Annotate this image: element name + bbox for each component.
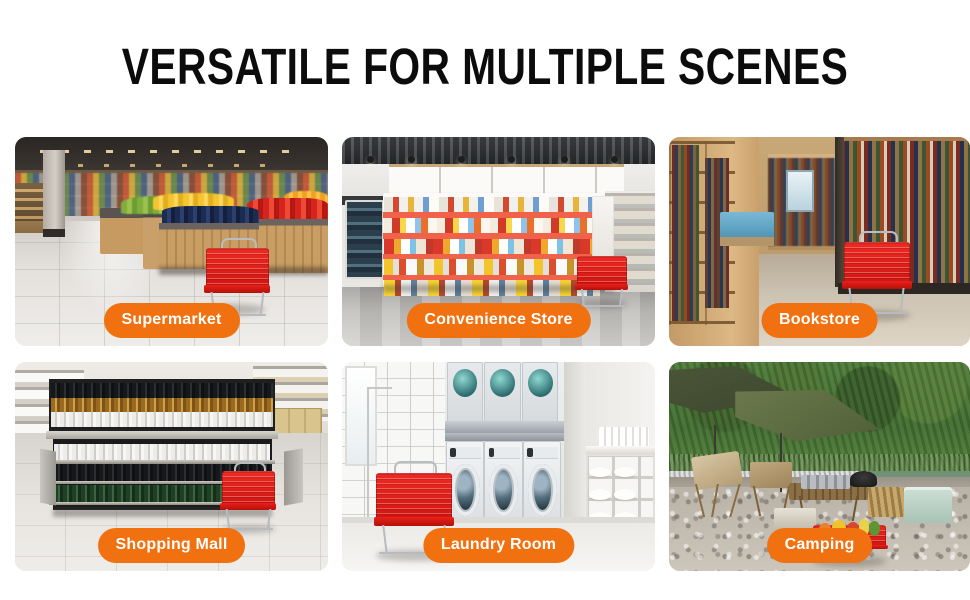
wood-counter-b — [259, 219, 328, 273]
chair-leg — [730, 484, 741, 517]
bench-base — [720, 237, 774, 245]
counter-top — [586, 446, 655, 454]
scene-card-camping[interactable]: Camping — [669, 362, 970, 571]
beverage-fridge — [345, 200, 383, 279]
shelf-wing-left — [40, 448, 56, 505]
track-light-icon — [611, 156, 618, 163]
storage-box — [774, 508, 816, 529]
red-shopping-basket — [222, 471, 275, 530]
track-light-icon — [561, 156, 568, 163]
shelf-row-products — [384, 197, 600, 212]
scene-grid: Supermarket — [15, 137, 956, 571]
scene-card-laundry-room[interactable]: Laundry Room — [342, 362, 655, 571]
ceiling-light-row — [40, 150, 303, 153]
folded-towel — [589, 467, 611, 477]
column — [43, 150, 65, 238]
camp-stove — [850, 471, 877, 488]
window — [786, 170, 814, 212]
dryer-door — [528, 369, 553, 397]
track-light-icon — [367, 156, 374, 163]
dryer-door — [490, 369, 515, 397]
bottle-row-white — [51, 412, 273, 427]
scene-card-supermarket[interactable]: Supermarket — [15, 137, 328, 346]
scene-label-bookstore[interactable]: Bookstore — [761, 303, 878, 338]
dryer — [522, 362, 558, 423]
page-title: VERSATILE FOR MULTIPLE SCENES — [97, 40, 873, 94]
camp-chair — [693, 454, 741, 517]
scene-label-supermarket[interactable]: Supermarket — [103, 303, 239, 338]
scene-label-laundry-room[interactable]: Laundry Room — [423, 528, 574, 563]
ceiling-slats — [342, 137, 655, 164]
basket-cart-legs — [579, 289, 625, 307]
scene-card-convenience-store[interactable]: Convenience Store — [342, 137, 655, 346]
basket-body — [844, 242, 910, 286]
firewood — [868, 487, 904, 516]
folded-towel — [589, 489, 611, 499]
cooler-box — [904, 487, 952, 523]
machine-beam — [445, 421, 564, 434]
wall-rail — [367, 387, 369, 521]
bookcase-divider — [835, 137, 844, 287]
dryer — [484, 362, 520, 423]
red-shopping-basket-stack — [844, 242, 910, 313]
bottle-row-white — [54, 444, 270, 461]
cookware — [801, 475, 849, 490]
washer-door — [528, 464, 557, 516]
shelf-row-products — [384, 218, 600, 233]
basket-body — [222, 471, 275, 507]
washer-knob — [450, 448, 456, 456]
basket-cart-legs — [224, 509, 273, 530]
dryer — [447, 362, 483, 423]
scene-card-bookstore[interactable]: Bookstore — [669, 137, 970, 346]
promo-banner: VERSATILE FOR MULTIPLE SCENES — [0, 0, 970, 600]
greens — [869, 521, 880, 536]
shelf-row-products — [384, 239, 600, 254]
washer-knob — [527, 448, 533, 456]
track-light-icon — [408, 156, 415, 163]
left-books — [672, 145, 699, 321]
scene-label-convenience-store[interactable]: Convenience Store — [406, 303, 590, 338]
chair-seat — [750, 462, 792, 488]
wall-rail-top — [367, 387, 392, 389]
cart-foot — [579, 305, 625, 307]
dryer-door — [453, 369, 478, 397]
washer-door — [489, 464, 518, 516]
basket-body — [577, 256, 627, 287]
washing-machine — [523, 441, 561, 527]
track-light-icon — [458, 156, 465, 163]
chair-leg — [711, 484, 719, 517]
shelf-row-products — [384, 259, 600, 274]
basket-body — [206, 248, 269, 289]
machine-beam-lower — [445, 433, 564, 441]
washing-machine — [446, 441, 484, 527]
scene-label-camping[interactable]: Camping — [767, 528, 873, 563]
red-shopping-basket — [577, 256, 627, 306]
washer-door — [451, 464, 480, 516]
folded-towel — [614, 467, 636, 477]
bottle-row-dark — [51, 383, 273, 398]
detergent-bottles — [599, 427, 649, 448]
ceiling-light-row-2 — [78, 164, 285, 167]
washing-machine — [484, 441, 522, 527]
track-light-icon — [508, 156, 515, 163]
column-base — [43, 229, 65, 237]
scene-card-shopping-mall[interactable]: Shopping Mall — [15, 362, 328, 571]
folded-towel — [614, 489, 636, 499]
window — [345, 366, 377, 466]
shelf-wing-right — [284, 448, 303, 506]
bottle-row-amber — [51, 398, 273, 413]
basket-body — [376, 473, 451, 522]
scene-label-shopping-mall[interactable]: Shopping Mall — [98, 528, 246, 563]
blue-bench — [720, 212, 774, 239]
washer-knob — [489, 448, 495, 456]
chair-leg — [753, 486, 761, 516]
gondola-deck — [46, 431, 278, 439]
